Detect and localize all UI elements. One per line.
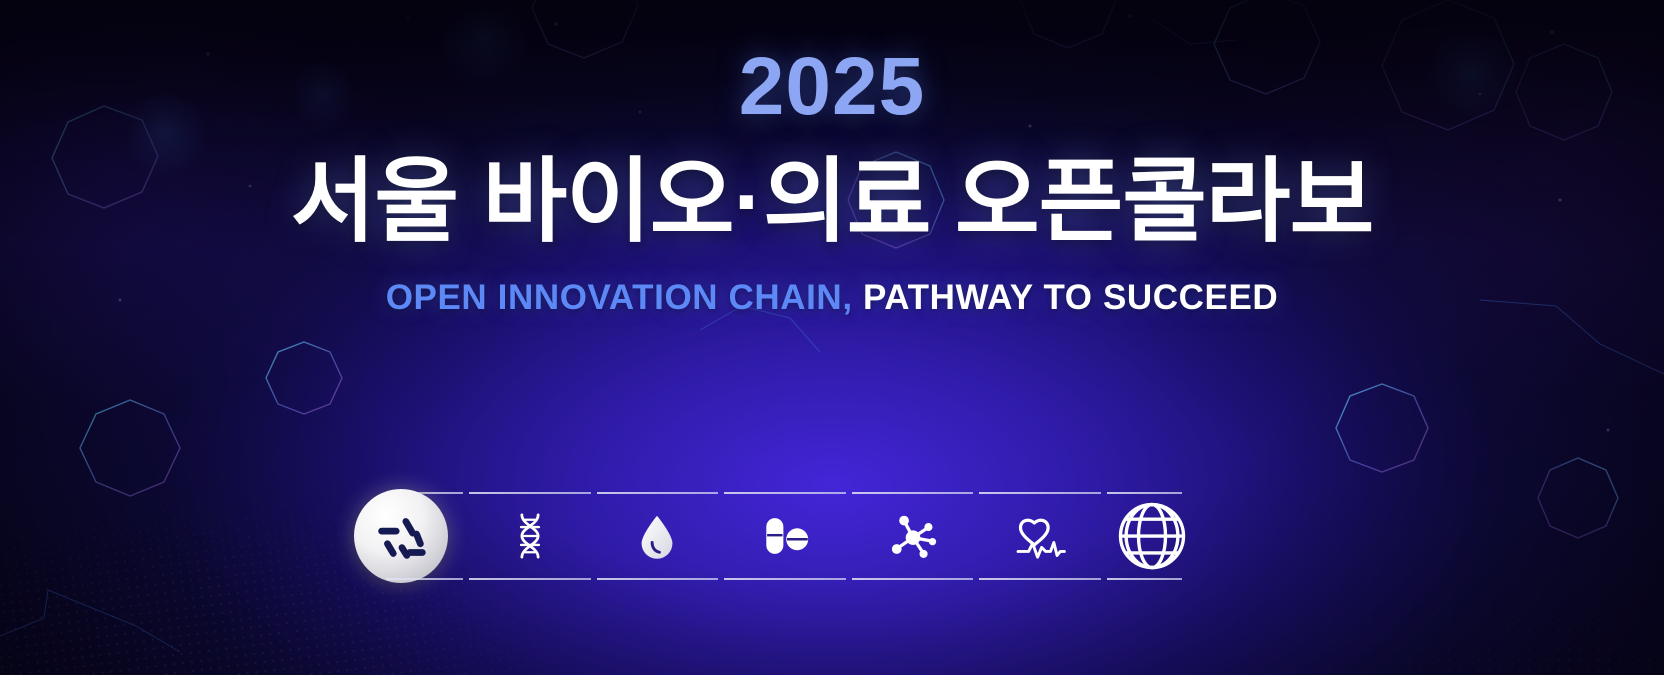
icon-strip <box>358 492 1200 580</box>
pill-capsule-icon <box>759 510 811 562</box>
icon-cell-dna <box>466 492 594 580</box>
seoul-logo-icon <box>354 489 448 583</box>
water-droplet-icon <box>631 510 683 562</box>
icon-cell-heart-pulse <box>976 492 1104 580</box>
subtitle-plain: PATHWAY TO SUCCEED <box>853 278 1279 317</box>
icon-cell-seoul-logo <box>358 492 466 580</box>
icon-cell-globe <box>1104 492 1200 580</box>
banner-subtitle: OPEN INNOVATION CHAIN, PATHWAY TO SUCCEE… <box>386 280 1279 315</box>
event-year: 2025 <box>739 46 925 128</box>
icon-cell-droplet <box>594 492 722 580</box>
globe-icon <box>1116 500 1188 572</box>
page-title: 서울 바이오·의료 오픈콜라보 <box>291 156 1373 250</box>
dna-helix-icon <box>504 510 556 562</box>
icon-cell-molecule <box>849 492 977 580</box>
molecule-icon <box>887 510 939 562</box>
event-banner: 2025 서울 바이오·의료 오픈콜라보 OPEN INNOVATION CHA… <box>0 0 1664 675</box>
icon-cell-pill <box>721 492 849 580</box>
heart-pulse-icon <box>1014 510 1066 562</box>
subtitle-highlight: OPEN INNOVATION CHAIN, <box>386 278 853 317</box>
